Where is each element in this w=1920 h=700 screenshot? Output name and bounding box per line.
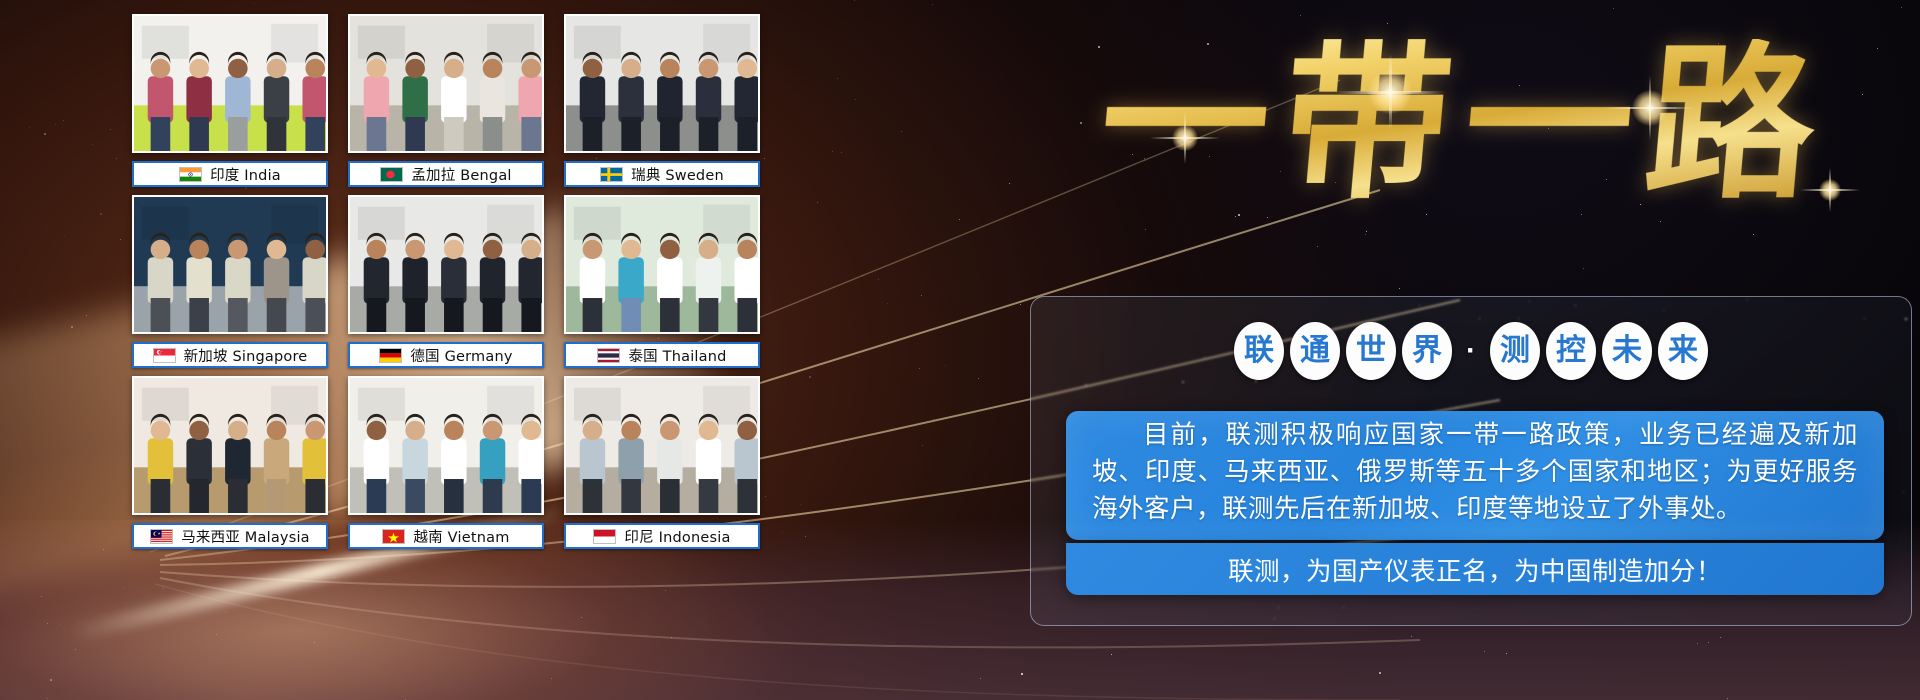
country-card-germany[interactable]: 德国 Germany (348, 195, 544, 373)
country-label-text: 越南 Vietnam (413, 526, 509, 547)
flag-thailand (597, 348, 620, 363)
flag-bangladesh (380, 167, 403, 182)
country-label-germany[interactable]: 德国 Germany (348, 342, 544, 368)
slogan-char-6: 控 (1546, 322, 1596, 380)
thailand-team-photo (566, 197, 758, 332)
flag-malaysia (150, 529, 173, 544)
slogan-strip: 联通世界·测控未来 (1030, 312, 1912, 390)
country-photo-bengal (348, 14, 544, 153)
country-photo-singapore (132, 195, 328, 334)
slogan-char-7: 未 (1602, 322, 1652, 380)
country-label-text: 新加坡 Singapore (184, 345, 308, 366)
country-label-text: 泰国 Thailand (628, 345, 726, 366)
slogan-char-text: 通 (1300, 336, 1330, 366)
banner-stage: 印度 India孟加拉 Bengal瑞典 Sweden新加坡 Singapore… (0, 0, 1920, 700)
country-label-text: 印尼 Indonesia (624, 526, 730, 547)
tagline-text: 联测，为国产仪表正名，为中国制造加分！ (1228, 551, 1722, 588)
country-label-sweden[interactable]: 瑞典 Sweden (564, 161, 760, 187)
slogan-char-text: 世 (1356, 336, 1386, 366)
malaysia-team-photo (134, 378, 326, 513)
country-card-thailand[interactable]: 泰国 Thailand (564, 195, 760, 373)
country-label-india[interactable]: 印度 India (132, 161, 328, 187)
country-label-text: 德国 Germany (410, 345, 512, 366)
country-card-sweden[interactable]: 瑞典 Sweden (564, 14, 760, 192)
flag-germany (379, 348, 402, 363)
country-label-thailand[interactable]: 泰国 Thailand (564, 342, 760, 368)
slogan-char-1: 通 (1290, 322, 1340, 380)
country-label-vietnam[interactable]: 越南 Vietnam (348, 523, 544, 549)
belt-and-road-heading: 一带一路 (1020, 18, 1910, 228)
singapore-team-photo (134, 197, 326, 332)
slogan-char-text: 未 (1612, 336, 1642, 366)
flag-singapore (153, 348, 176, 363)
slogan-char-0: 联 (1234, 322, 1284, 380)
country-photo-vietnam (348, 376, 544, 515)
slogan-char-8: 来 (1658, 322, 1708, 380)
slogan-char-3: 界 (1402, 322, 1452, 380)
country-card-india[interactable]: 印度 India (132, 14, 328, 192)
bengal-team-photo (350, 16, 542, 151)
india-team-photo (134, 16, 326, 151)
country-photo-thailand (564, 195, 760, 334)
flag-sweden (600, 167, 623, 182)
country-label-text: 瑞典 Sweden (631, 164, 724, 185)
slogan-char-text: 控 (1556, 336, 1586, 366)
indonesia-team-photo (566, 378, 758, 513)
germany-team-photo (350, 197, 542, 332)
slogan-char-text: 测 (1500, 336, 1530, 366)
description-box: 目前，联测积极响应国家一带一路政策，业务已经遍及新加坡、印度、马来西亚、俄罗斯等… (1066, 411, 1884, 540)
country-card-malaysia[interactable]: 马来西亚 Malaysia (132, 376, 328, 554)
slogan-separator: · (1458, 334, 1484, 368)
flag-india (179, 167, 202, 182)
country-photo-germany (348, 195, 544, 334)
slogan-char-text: 界 (1412, 336, 1442, 366)
slogan-char-text: 联 (1244, 336, 1274, 366)
country-label-text: 孟加拉 Bengal (411, 164, 511, 185)
heading-text: 一带一路 (1094, 39, 1837, 207)
tagline-bar: 联测，为国产仪表正名，为中国制造加分！ (1066, 543, 1884, 595)
description-text: 目前，联测积极响应国家一带一路政策，业务已经遍及新加坡、印度、马来西亚、俄罗斯等… (1092, 417, 1858, 528)
country-card-singapore[interactable]: 新加坡 Singapore (132, 195, 328, 373)
vietnam-team-photo (350, 378, 542, 513)
flag-indonesia (593, 529, 616, 544)
slogan-char-5: 测 (1490, 322, 1540, 380)
country-photo-grid: 印度 India孟加拉 Bengal瑞典 Sweden新加坡 Singapore… (132, 14, 760, 574)
flag-vietnam (382, 529, 405, 544)
country-label-indonesia[interactable]: 印尼 Indonesia (564, 523, 760, 549)
country-photo-indonesia (564, 376, 760, 515)
country-card-vietnam[interactable]: 越南 Vietnam (348, 376, 544, 554)
sweden-team-photo (566, 16, 758, 151)
country-photo-sweden (564, 14, 760, 153)
slogan-char-text: 来 (1668, 336, 1698, 366)
country-label-malaysia[interactable]: 马来西亚 Malaysia (132, 523, 328, 549)
country-photo-malaysia (132, 376, 328, 515)
country-card-bengal[interactable]: 孟加拉 Bengal (348, 14, 544, 192)
country-label-bengal[interactable]: 孟加拉 Bengal (348, 161, 544, 187)
slogan-char-2: 世 (1346, 322, 1396, 380)
country-card-indonesia[interactable]: 印尼 Indonesia (564, 376, 760, 554)
country-label-singapore[interactable]: 新加坡 Singapore (132, 342, 328, 368)
country-label-text: 印度 India (210, 164, 281, 185)
country-photo-india (132, 14, 328, 153)
country-label-text: 马来西亚 Malaysia (181, 526, 310, 547)
